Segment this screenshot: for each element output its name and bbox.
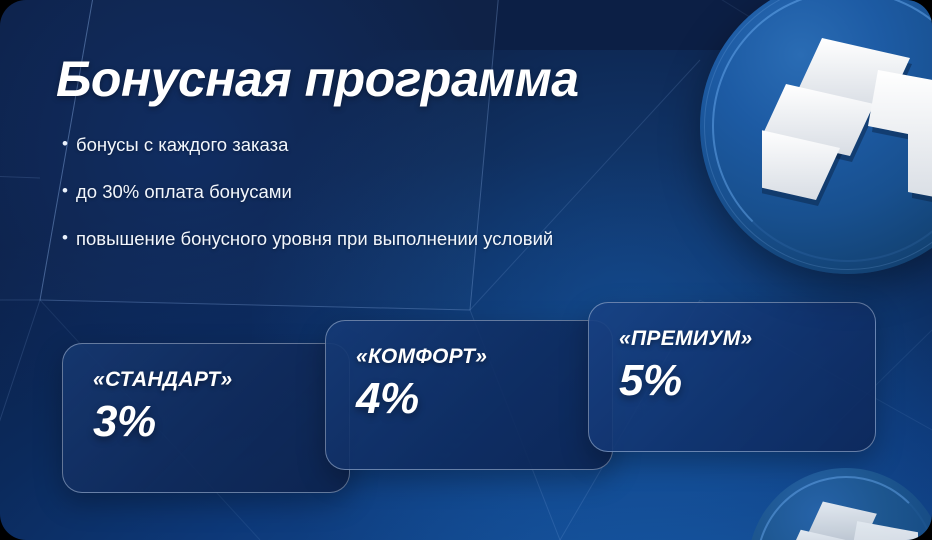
company-logo-icon-secondary xyxy=(786,496,918,540)
tier-percent-standard: 3% xyxy=(93,400,319,444)
tier-card-comfort[interactable]: «КОМФОРТ» 4% xyxy=(325,320,613,470)
bullet-dot-icon: • xyxy=(62,182,76,199)
tier-name-premium: «ПРЕМИУМ» xyxy=(619,327,845,351)
bullet-dot-icon: • xyxy=(62,229,76,246)
list-item: • бонусы с каждого заказа xyxy=(62,134,762,156)
benefits-list: • бонусы с каждого заказа • до 30% оплат… xyxy=(62,134,762,275)
tier-percent-comfort: 4% xyxy=(356,377,582,421)
page-title: Бонусная программа xyxy=(56,54,579,104)
tier-card-standard[interactable]: «СТАНДАРТ» 3% xyxy=(62,343,350,493)
tier-card-premium[interactable]: «ПРЕМИУМ» 5% xyxy=(588,302,876,452)
list-item-label: повышение бонусного уровня при выполнени… xyxy=(76,228,553,250)
list-item-label: до 30% оплата бонусами xyxy=(76,181,292,203)
list-item: • до 30% оплата бонусами xyxy=(62,181,762,203)
company-logo-icon xyxy=(762,30,932,230)
list-item: • повышение бонусного уровня при выполне… xyxy=(62,228,762,250)
tier-name-standard: «СТАНДАРТ» xyxy=(93,368,319,392)
list-item-label: бонусы с каждого заказа xyxy=(76,134,288,156)
tier-percent-premium: 5% xyxy=(619,359,845,403)
bullet-dot-icon: • xyxy=(62,135,76,152)
tier-name-comfort: «КОМФОРТ» xyxy=(356,345,582,369)
bonus-program-banner: Бонусная программа • бонусы с каждого за… xyxy=(0,0,932,540)
